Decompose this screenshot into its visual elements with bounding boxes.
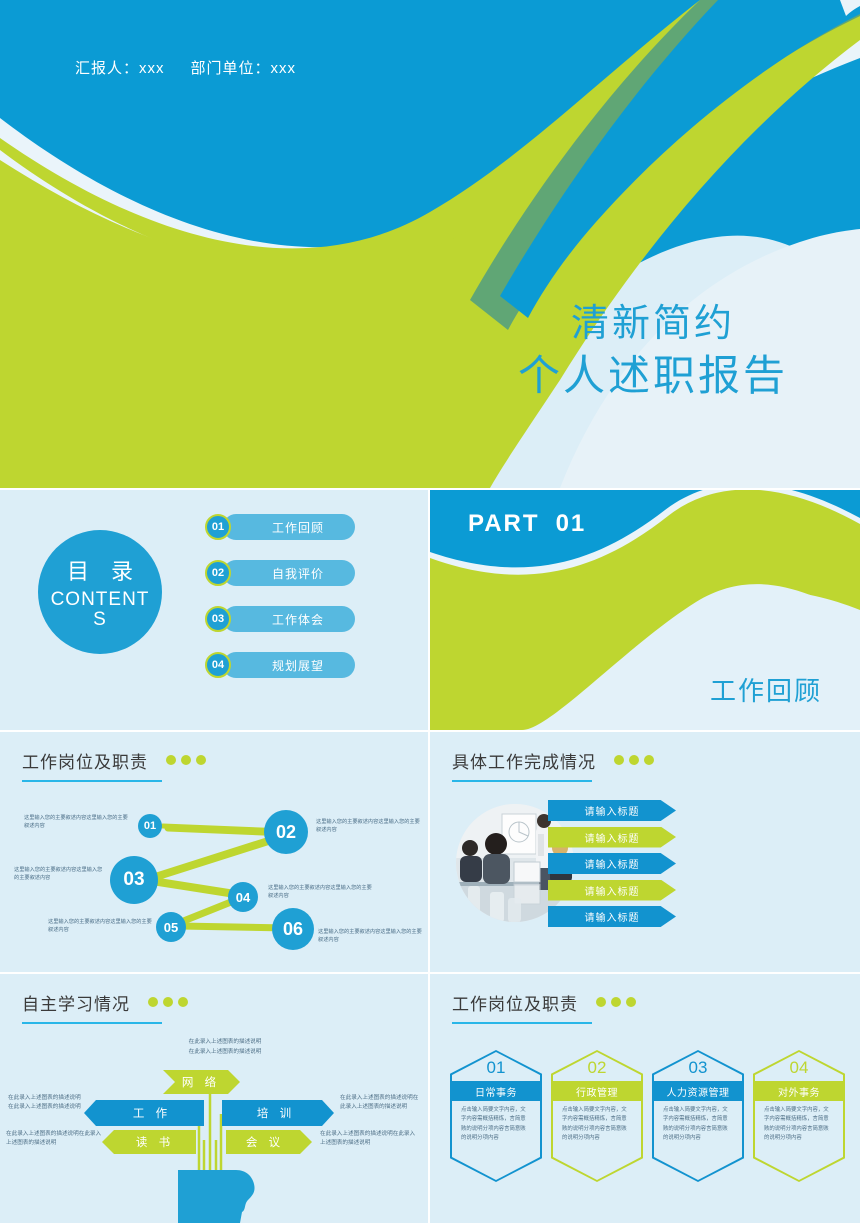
header-dots-icon xyxy=(614,752,659,770)
hex-card-2-body: 点击输入简要文字内容，文字内容需概括精炼，言简意赅的说明分项内容言简意赅的说明分… xyxy=(562,1106,632,1143)
section-header: 具体工作完成情况 xyxy=(452,748,659,782)
contents-item-4[interactable]: 规划展望 04 xyxy=(205,652,405,678)
hex-card-4-body: 点击输入简要文字内容，文字内容需概括精炼，言简意赅的说明分项内容言简意赅的说明分… xyxy=(764,1106,834,1143)
section-header-title: 工作岗位及职责 xyxy=(452,990,578,1015)
tree-branch-work-desc: 在此录入上述图表的描述说明在此录入上述图表的描述说明 xyxy=(8,1094,86,1112)
node-02-text: 这里输入您的主要叙述内容这里输入您的主要叙述内容 xyxy=(316,818,422,834)
node-04[interactable]: 04 xyxy=(228,882,258,912)
hex-card-list: 01 日常事务 点击输入简要文字内容，文字内容需概括精炼，言简意赅的说明分项内容… xyxy=(450,1050,845,1182)
page-title: 清新简约 个人述职报告 xyxy=(518,300,788,402)
slide-work-completion: 具体工作完成情况 xyxy=(430,732,860,972)
section-header: 工作岗位及职责 xyxy=(452,990,641,1024)
part-number: 01 xyxy=(556,510,587,537)
arrow-row-5[interactable]: 请输入标题 点击输入简要文字内容，言简意赅的说明分项内容 xyxy=(548,906,676,927)
contents-item-2-label: 自我评价 xyxy=(223,560,355,586)
header-dots-icon xyxy=(596,994,641,1012)
tree-branch-work-label[interactable]: 工 作 xyxy=(104,1100,200,1126)
main-title-line1: 清新简约 xyxy=(518,300,788,349)
hex-card-2-title: 行政管理 xyxy=(553,1081,641,1101)
contents-item-1[interactable]: 工作回顾 01 xyxy=(205,514,405,540)
hex-card-1-title: 日常事务 xyxy=(452,1081,540,1101)
header-underline xyxy=(452,780,592,782)
contents-item-4-label: 规划展望 xyxy=(223,652,355,678)
node-01[interactable]: 01 xyxy=(138,814,162,838)
hex-card-3[interactable]: 03 人力资源管理 点击输入简要文字内容，文字内容需概括精炼，言简意赅的说明分项… xyxy=(652,1050,744,1182)
arrow-list: 请输入标题 点击输入简要文字内容，言简意赅的说明分项内容 请输入标题 点击输入简… xyxy=(548,800,676,933)
arrow-row-1-title: 请输入标题 xyxy=(585,803,640,818)
tree-branch-meeting-label[interactable]: 会 议 xyxy=(226,1130,304,1154)
node-05-text: 这里输入您的主要叙述内容这里输入您的主要叙述内容 xyxy=(48,918,152,934)
node-06[interactable]: 06 xyxy=(272,908,314,950)
slide-job-duties-hex: 工作岗位及职责 01 日常事务 点击输入简要文字内容，文字内容需概括精炼，言简意… xyxy=(430,974,860,1223)
tree-branch-reading-label[interactable]: 读 书 xyxy=(114,1130,196,1154)
contents-item-1-label: 工作回顾 xyxy=(223,514,355,540)
tree-branch-reading-desc: 在此录入上述图表的描述说明在此录入上述图表的描述说明 xyxy=(6,1130,102,1148)
hex-card-1-number: 01 xyxy=(450,1058,542,1078)
hex-card-1[interactable]: 01 日常事务 点击输入简要文字内容，文字内容需概括精炼，言简意赅的说明分项内容… xyxy=(450,1050,542,1182)
title-byline: 汇报人：xxx部门单位：xxx xyxy=(75,57,296,78)
node-03-text: 这里输入您的主要叙述内容这里输入您的主要叙述内容 xyxy=(14,866,106,882)
contents-badge: 目 录 CONTENTS xyxy=(38,530,162,654)
tree-top-note-line1: 在此录入上述图表的描述说明 xyxy=(150,1038,300,1048)
hex-card-2-number: 02 xyxy=(551,1058,643,1078)
hex-card-4[interactable]: 04 对外事务 点击输入简要文字内容，文字内容需概括精炼，言简意赅的说明分项内容… xyxy=(753,1050,845,1182)
main-title-line2: 个人述职报告 xyxy=(518,349,788,403)
slide-deck: 汇报人：xxx部门单位：xxx 清新简约 个人述职报告 目 录 CONTENTS… xyxy=(0,0,860,1219)
arrow-row-1-desc: 点击输入简要文字内容，言简意赅的说明分项内容 xyxy=(800,802,860,819)
node-01-text: 这里输入您的主要叙述内容这里输入您的主要叙述内容 xyxy=(24,814,132,830)
tree-branch-network-label[interactable]: 网 络 xyxy=(166,1070,236,1094)
node-06-number: 06 xyxy=(283,919,303,940)
hex-card-3-title: 人力资源管理 xyxy=(654,1081,742,1101)
contents-item-2-number: 02 xyxy=(205,560,231,586)
slide-self-learning: 自主学习情况 在 xyxy=(0,974,430,1223)
contents-badge-en: CONTENTS xyxy=(50,590,150,630)
contents-item-3-number: 03 xyxy=(205,606,231,632)
slide-part-divider: PART01 工作回顾 xyxy=(430,490,860,730)
arrow-row-5-desc: 点击输入简要文字内容，言简意赅的说明分项内容 xyxy=(800,908,860,925)
arrow-row-3[interactable]: 请输入标题 点击输入简要文字内容，言简意赅的说明分项内容 xyxy=(548,853,676,874)
arrow-row-2[interactable]: 请输入标题 点击输入简要文字内容，言简意赅的说明分项内容 xyxy=(548,827,676,848)
reporter-label: 汇报人：xxx xyxy=(75,60,165,77)
node-02-number: 02 xyxy=(276,822,296,843)
section-header-title: 具体工作完成情况 xyxy=(452,748,596,773)
arrow-row-5-title: 请输入标题 xyxy=(585,909,640,924)
node-06-text: 这里输入您的主要叙述内容这里输入您的主要叙述内容 xyxy=(318,928,422,944)
part-label: PART01 xyxy=(468,510,586,538)
tree-branch-training-label[interactable]: 培 训 xyxy=(228,1100,324,1126)
arrow-row-1[interactable]: 请输入标题 点击输入简要文字内容，言简意赅的说明分项内容 xyxy=(548,800,676,821)
slide-contents: 目 录 CONTENTS 工作回顾 01 自我评价 02 工作体会 03 规划展… xyxy=(0,490,430,730)
contents-badge-cn: 目 录 xyxy=(67,554,141,586)
hex-card-2[interactable]: 02 行政管理 点击输入简要文字内容，文字内容需概括精炼，言简意赅的说明分项内容… xyxy=(551,1050,643,1182)
part-word: PART xyxy=(468,510,540,537)
arrow-row-3-desc: 点击输入简要文字内容，言简意赅的说明分项内容 xyxy=(800,855,860,872)
arrow-row-4-title: 请输入标题 xyxy=(585,883,640,898)
slide-title: 汇报人：xxx部门单位：xxx 清新简约 个人述职报告 xyxy=(0,0,860,488)
arrow-row-2-desc: 点击输入简要文字内容，言简意赅的说明分项内容 xyxy=(800,828,860,845)
node-04-text: 这里输入您的主要叙述内容这里输入您的主要叙述内容 xyxy=(268,884,372,900)
tree-branch-meeting-desc: 在此录入上述图表的描述说明在此录入上述图表的描述说明 xyxy=(320,1130,418,1148)
tree-branch-training-desc: 在此录入上述图表的描述说明在此录入上述图表的描述说明 xyxy=(340,1094,420,1112)
node-04-number: 04 xyxy=(236,890,250,905)
node-03-number: 03 xyxy=(123,869,144,891)
hex-card-3-body: 点击输入简要文字内容，文字内容需概括精炼，言简意赅的说明分项内容言简意赅的说明分… xyxy=(663,1106,733,1143)
contents-item-1-number: 01 xyxy=(205,514,231,540)
contents-item-2[interactable]: 自我评价 02 xyxy=(205,560,405,586)
header-underline xyxy=(452,1022,592,1024)
contents-item-3-label: 工作体会 xyxy=(223,606,355,632)
contents-item-4-number: 04 xyxy=(205,652,231,678)
node-03[interactable]: 03 xyxy=(110,856,158,904)
arrow-row-4[interactable]: 请输入标题 点击输入简要文字内容，言简意赅的说明分项内容 xyxy=(548,880,676,901)
department-label: 部门单位：xxx xyxy=(191,60,297,77)
node-01-number: 01 xyxy=(144,820,156,832)
hex-card-1-body: 点击输入简要文字内容，文字内容需概括精炼，言简意赅的说明分项内容言简意赅的说明分… xyxy=(461,1106,531,1143)
node-05-number: 05 xyxy=(164,920,178,935)
node-05[interactable]: 05 xyxy=(156,912,186,942)
arrow-row-4-desc: 点击输入简要文字内容，言简意赅的说明分项内容 xyxy=(800,881,860,898)
node-02[interactable]: 02 xyxy=(264,810,308,854)
tree-top-note: 在此录入上述图表的描述说明 在此录入上述图表的描述说明 xyxy=(150,1038,300,1057)
contents-item-3[interactable]: 工作体会 03 xyxy=(205,606,405,632)
hex-card-4-number: 04 xyxy=(753,1058,845,1078)
part-section-title: 工作回顾 xyxy=(710,671,822,708)
arrow-row-2-title: 请输入标题 xyxy=(585,830,640,845)
tree-top-note-line2: 在此录入上述图表的描述说明 xyxy=(150,1048,300,1058)
hex-card-4-title: 对外事务 xyxy=(755,1081,843,1101)
hex-card-3-number: 03 xyxy=(652,1058,744,1078)
arrow-row-3-title: 请输入标题 xyxy=(585,856,640,871)
slide-job-duties-nodes: 工作岗位及职责 01 这里输入您的主要叙述内容这里输入您的主要叙述内容 02 这… xyxy=(0,732,430,972)
contents-list: 工作回顾 01 自我评价 02 工作体会 03 规划展望 04 xyxy=(205,514,405,698)
